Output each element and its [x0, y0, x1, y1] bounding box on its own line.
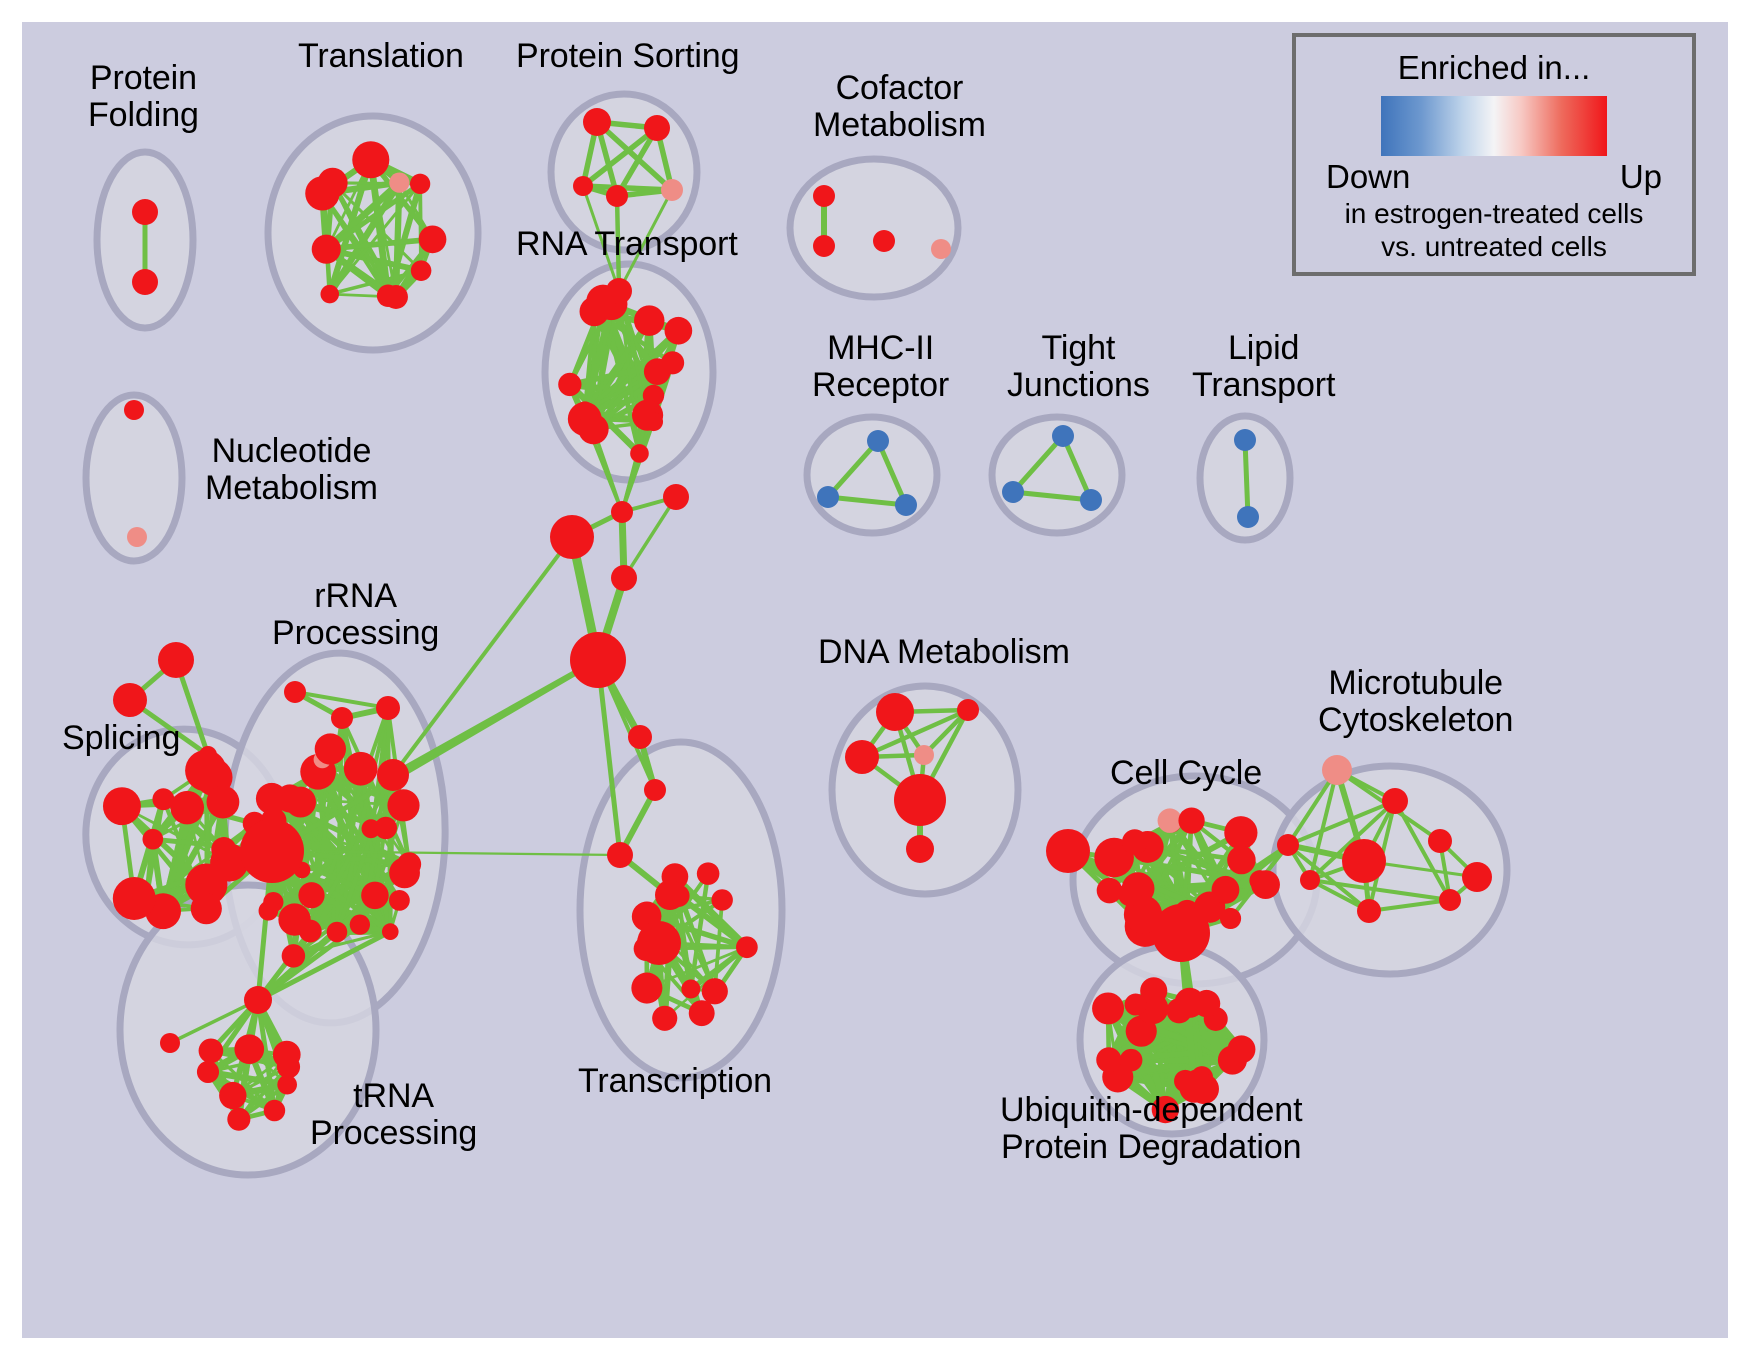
network-node: [1193, 990, 1220, 1017]
network-node: [160, 1033, 180, 1053]
network-node: [375, 817, 397, 839]
network-node: [1277, 834, 1299, 856]
network-node: [411, 260, 432, 281]
network-node: [1234, 429, 1256, 451]
network-node: [142, 829, 163, 850]
network-node: [1125, 993, 1147, 1015]
network-node: [312, 235, 341, 264]
network-node: [1428, 829, 1452, 853]
network-node: [384, 285, 408, 309]
network-node: [813, 235, 835, 257]
network-node: [1227, 846, 1255, 874]
network-node: [697, 862, 720, 885]
network-node: [1357, 899, 1381, 923]
network-node: [736, 936, 758, 958]
network-node: [1382, 788, 1408, 814]
network-node: [845, 740, 879, 774]
cluster-label-trna-processing: tRNA Processing: [310, 1078, 477, 1151]
cluster-label-dna-metabolism: DNA Metabolism: [818, 634, 1070, 671]
network-node: [867, 430, 889, 452]
network-node: [681, 980, 700, 999]
network-node: [389, 857, 420, 888]
network-node: [652, 1006, 677, 1031]
network-edge: [1245, 440, 1248, 517]
network-node: [127, 527, 147, 547]
color-scale-gradient: [1381, 96, 1607, 156]
network-node: [282, 944, 306, 968]
cluster-label-transcription: Transcription: [578, 1063, 772, 1100]
legend-caption-line2: vs. untreated cells: [1296, 231, 1692, 262]
network-node: [211, 837, 236, 862]
network-node: [1212, 876, 1240, 904]
cluster-hull-cofactor-metabolism: [790, 159, 958, 297]
network-node: [361, 882, 389, 910]
network-node: [277, 1055, 300, 1078]
network-node: [583, 108, 611, 136]
network-node: [132, 269, 158, 295]
cluster-label-tight-junctions: Tight Junctions: [1007, 330, 1150, 403]
network-node: [1462, 862, 1492, 892]
network-node: [1251, 870, 1280, 899]
network-node: [570, 632, 626, 688]
network-node: [575, 401, 594, 420]
network-node: [644, 412, 663, 431]
network-node: [113, 877, 156, 920]
legend-high-label: Up: [1620, 158, 1662, 196]
cluster-label-protein-folding: Protein Folding: [88, 60, 199, 133]
network-edge: [393, 537, 572, 775]
network-node: [550, 515, 594, 559]
cluster-label-translation: Translation: [298, 38, 464, 75]
network-node: [1228, 1035, 1256, 1063]
network-node: [327, 922, 348, 943]
network-node: [259, 901, 279, 921]
network-node: [199, 1038, 224, 1063]
network-node: [278, 903, 310, 935]
network-node: [1237, 506, 1259, 528]
network-node: [191, 893, 222, 924]
network-node: [914, 745, 934, 765]
network-node: [637, 921, 681, 965]
network-node: [1002, 481, 1024, 503]
network-node: [1120, 1049, 1143, 1072]
network-node: [895, 494, 917, 516]
cluster-label-cofactor-metabolism: Cofactor Metabolism: [813, 70, 986, 143]
network-node: [264, 1100, 285, 1121]
legend-box: Enriched in... Down Up in estrogen-treat…: [1292, 33, 1696, 276]
network-node: [113, 683, 147, 717]
network-node: [234, 1034, 264, 1064]
network-node: [607, 842, 633, 868]
network-node: [813, 185, 835, 207]
network-node: [298, 882, 324, 908]
network-node: [1342, 839, 1386, 883]
network-node: [1322, 755, 1352, 785]
legend-title: Enriched in...: [1296, 49, 1692, 87]
network-node: [644, 779, 666, 801]
network-node: [665, 317, 693, 345]
network-node: [158, 642, 194, 678]
network-node: [1122, 829, 1148, 855]
cluster-label-ubiquitin-degradation: Ubiquitin-dependent Protein Degradation: [1000, 1092, 1302, 1165]
network-node: [873, 230, 895, 252]
network-node: [644, 115, 670, 141]
network-node: [1096, 1047, 1121, 1072]
network-node: [350, 914, 370, 934]
network-node: [931, 239, 951, 259]
network-node: [1052, 425, 1074, 447]
network-node: [419, 225, 447, 253]
cluster-label-lipid-transport: Lipid Transport: [1192, 330, 1335, 403]
network-node: [606, 185, 628, 207]
network-node: [1174, 1070, 1196, 1092]
network-node: [634, 305, 664, 335]
network-node: [320, 285, 339, 304]
network-node: [352, 141, 389, 178]
network-node: [1158, 808, 1182, 832]
network-node: [315, 733, 346, 764]
network-node: [240, 819, 304, 883]
network-node: [1439, 889, 1461, 911]
network-node: [244, 986, 272, 1014]
network-node: [376, 696, 400, 720]
network-node: [894, 774, 946, 826]
network-node: [227, 1108, 250, 1131]
network-node: [711, 889, 732, 910]
network-node: [611, 501, 633, 523]
network-node: [661, 351, 684, 374]
network-node: [1097, 878, 1123, 904]
network-node: [630, 444, 649, 463]
network-node: [199, 746, 217, 764]
network-node: [876, 693, 914, 731]
network-node: [1220, 908, 1241, 929]
network-node: [124, 400, 144, 420]
network-node: [817, 486, 839, 508]
network-node: [331, 707, 353, 729]
network-node: [628, 725, 652, 749]
network-node: [689, 1000, 715, 1026]
network-node: [906, 835, 934, 863]
network-node: [611, 565, 637, 591]
network-node: [103, 787, 141, 825]
network-node: [207, 786, 240, 819]
network-node: [957, 699, 979, 721]
network-node: [558, 373, 581, 396]
network-node: [318, 168, 348, 198]
network-node: [1178, 807, 1204, 833]
network-node: [1092, 992, 1124, 1024]
network-node: [219, 1082, 246, 1109]
cluster-label-nucleotide-metabolism: Nucleotide Metabolism: [205, 433, 378, 506]
network-node: [377, 759, 409, 791]
legend-caption-line1: in estrogen-treated cells: [1296, 198, 1692, 229]
cluster-label-microtubule-cytoskeleton: Microtubule Cytoskeleton: [1318, 665, 1513, 738]
network-node: [389, 890, 410, 911]
network-node: [170, 791, 204, 825]
network-node: [1224, 816, 1257, 849]
network-node: [573, 176, 593, 196]
network-node: [389, 173, 409, 193]
cluster-label-cell-cycle: Cell Cycle: [1110, 755, 1262, 792]
cluster-label-rrna-processing: rRNA Processing: [272, 578, 439, 651]
network-node: [1152, 904, 1210, 962]
cluster-label-splicing: Splicing: [62, 720, 180, 757]
network-node: [655, 880, 685, 910]
network-node: [663, 484, 689, 510]
network-node: [702, 978, 728, 1004]
network-node: [1080, 489, 1102, 511]
network-node: [410, 174, 430, 194]
cluster-label-mhc-ii-receptor: MHC-II Receptor: [812, 330, 949, 403]
network-node: [606, 278, 632, 304]
figure-canvas: Protein Folding Translation Protein Sort…: [0, 0, 1750, 1360]
network-node: [631, 973, 662, 1004]
network-node: [276, 784, 304, 812]
network-node: [1300, 870, 1320, 890]
network-node: [132, 199, 158, 225]
network-node: [284, 681, 306, 703]
network-node: [382, 923, 399, 940]
cluster-label-rna-transport: RNA Transport: [516, 226, 738, 263]
network-node: [661, 179, 683, 201]
network-node: [344, 752, 378, 786]
cluster-label-protein-sorting: Protein Sorting: [516, 38, 739, 75]
network-node: [197, 1061, 219, 1083]
legend-low-label: Down: [1326, 158, 1410, 196]
network-node: [1046, 829, 1090, 873]
network-node: [387, 789, 419, 821]
